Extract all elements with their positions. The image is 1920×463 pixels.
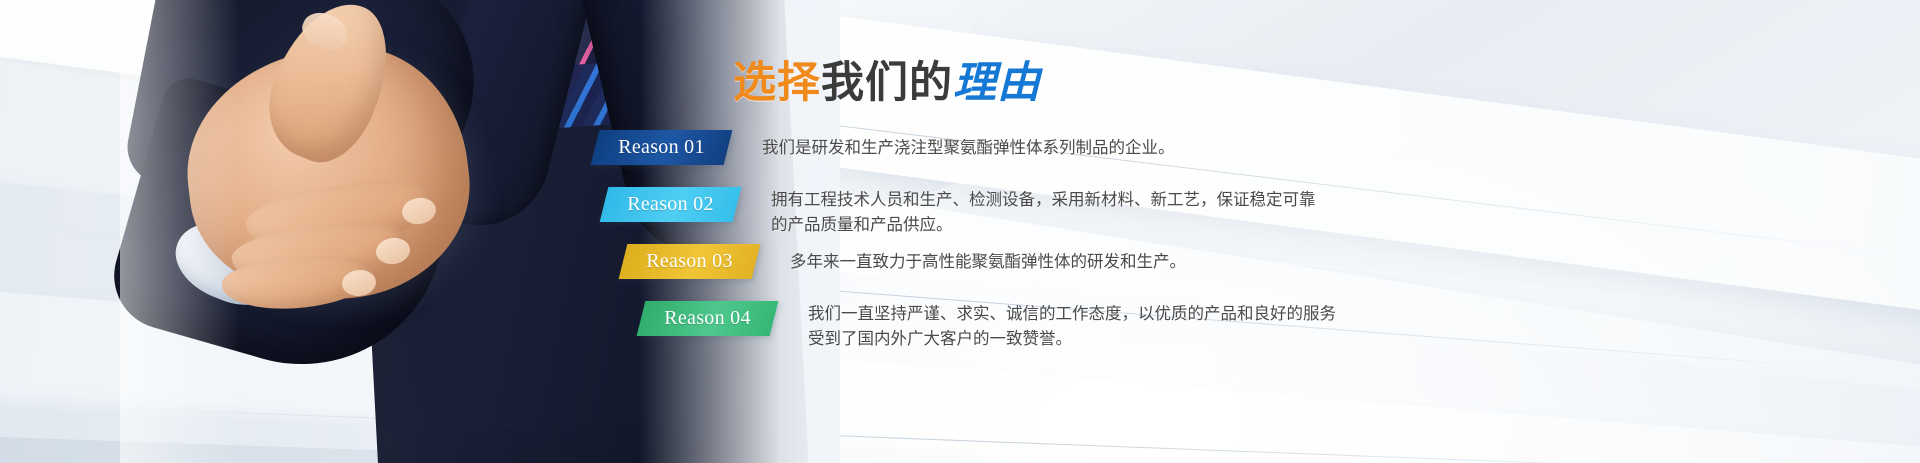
reason-item-4: Reason 04 我们一直坚持严谨、求实、诚信的工作态度，以优质的产品和良好的…: [641, 301, 1336, 351]
reason-badge-label-4: Reason 04: [641, 301, 774, 336]
reason-item-1: Reason 01 我们是研发和生产浇注型聚氨酯弹性体系列制品的企业。: [595, 130, 1175, 165]
reason-badge-label-3: Reason 03: [623, 244, 756, 279]
reason-text-2: 拥有工程技术人员和生产、检测设备，采用新材料、新工艺，保证稳定可靠 的产品质量和…: [771, 187, 1316, 237]
reasons-list: Reason 01 我们是研发和生产浇注型聚氨酯弹性体系列制品的企业。 Reas…: [0, 0, 1920, 463]
reason-badge-label-2: Reason 02: [604, 187, 737, 222]
reason-badge-1[interactable]: Reason 01: [591, 130, 733, 165]
reason-badge-3[interactable]: Reason 03: [619, 244, 761, 279]
banner-content: 选择我们的理由 Reason 01 我们是研发和生产浇注型聚氨酯弹性体系列制品的…: [0, 0, 1920, 463]
reason-badge-2[interactable]: Reason 02: [600, 187, 742, 222]
reason-item-3: Reason 03 多年来一直致力于高性能聚氨酯弹性体的研发和生产。: [623, 244, 1186, 279]
reason-item-2: Reason 02 拥有工程技术人员和生产、检测设备，采用新材料、新工艺，保证稳…: [604, 187, 1316, 237]
reason-badge-4[interactable]: Reason 04: [637, 301, 779, 336]
reason-text-3: 多年来一直致力于高性能聚氨酯弹性体的研发和生产。: [790, 244, 1186, 274]
reason-badge-label-1: Reason 01: [595, 130, 728, 165]
reason-text-4: 我们一直坚持严谨、求实、诚信的工作态度，以优质的产品和良好的服务 受到了国内外广…: [808, 301, 1336, 351]
reason-text-1: 我们是研发和生产浇注型聚氨酯弹性体系列制品的企业。: [762, 130, 1175, 160]
promo-banner: 选择我们的理由 Reason 01 我们是研发和生产浇注型聚氨酯弹性体系列制品的…: [0, 0, 1920, 463]
